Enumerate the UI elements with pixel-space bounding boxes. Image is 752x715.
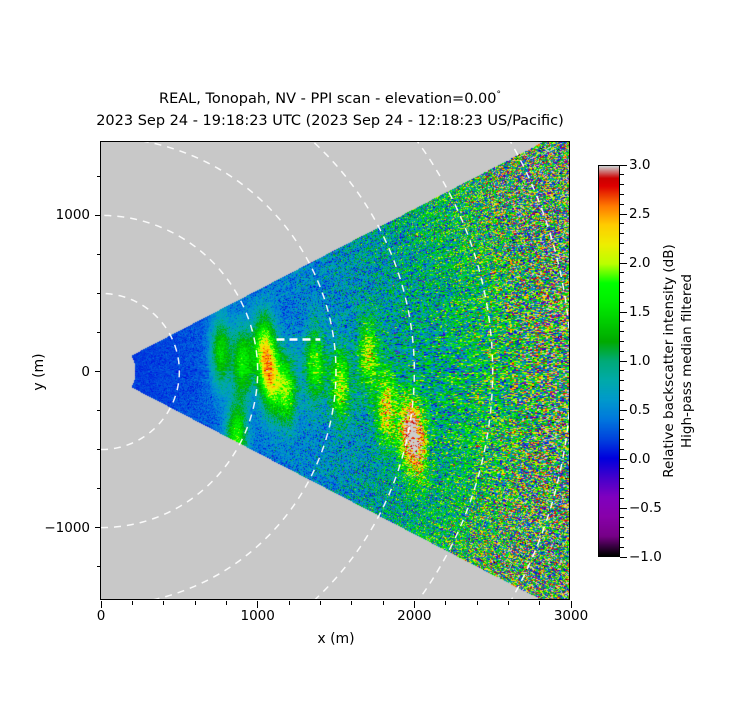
- colorbar-tick--0.5: [620, 508, 627, 509]
- range-rings-overlay: [101, 142, 569, 599]
- colorbar-tick--0.8: [620, 537, 624, 538]
- x-tick-label-2000: 2000: [397, 608, 431, 624]
- colorbar-tick--0.1: [620, 468, 624, 469]
- colorbar-tick-1.0: [620, 361, 627, 362]
- colorbar-tick-0.2: [620, 439, 624, 440]
- y-tick-750: [97, 254, 101, 255]
- colorbar-tick-2.0: [620, 263, 627, 264]
- y-tick-0: [95, 371, 102, 372]
- colorbar-tick-0.0: [620, 459, 627, 460]
- colorbar-tick-0.6: [620, 400, 624, 401]
- colorbar-tick-2.5: [620, 214, 627, 215]
- y-tick--1250: [97, 566, 101, 567]
- colorbar-label-line-1: Relative backscatter intensity (dB): [660, 244, 678, 477]
- colorbar-tick-label-0.5: 0.5: [629, 402, 650, 418]
- x-tick-label-3000: 3000: [554, 608, 588, 624]
- colorbar-tick-1.3: [620, 331, 624, 332]
- y-tick-500: [97, 293, 101, 294]
- colorbar-label: Relative backscatter intensity (dB) High…: [660, 244, 696, 477]
- colorbar-gradient: [599, 166, 619, 556]
- x-tick-1000: [257, 601, 258, 608]
- colorbar-tick-label--1.0: −1.0: [629, 549, 662, 565]
- range-ring-1500m: [101, 142, 336, 599]
- colorbar-tick--0.7: [620, 527, 624, 528]
- colorbar-tick-0.3: [620, 429, 624, 430]
- x-tick-label-1000: 1000: [240, 608, 274, 624]
- colorbar-tick-0.5: [620, 410, 627, 411]
- colorbar-tick-2.1: [620, 253, 624, 254]
- y-tick-label-1000: 1000: [56, 207, 90, 223]
- colorbar-tick-1.8: [620, 282, 624, 283]
- colorbar-tick-label-1.5: 1.5: [629, 304, 650, 320]
- y-tick--250: [97, 410, 101, 411]
- x-tick-800: [226, 601, 227, 605]
- colorbar-tick-label-3.0: 3.0: [629, 157, 650, 173]
- x-tick-2400: [477, 601, 478, 605]
- colorbar-tick-0.1: [620, 449, 624, 450]
- x-tick-1200: [289, 601, 290, 605]
- x-tick-2800: [539, 601, 540, 605]
- ppi-plot-axes: 0100020003000−100001000 x (m) y (m): [100, 141, 570, 600]
- colorbar-tick-2.7: [620, 194, 624, 195]
- colorbar-tick--0.9: [620, 547, 624, 548]
- y-axis-label: y (m): [31, 353, 47, 390]
- colorbar-tick-label-2.0: 2.0: [629, 255, 650, 271]
- colorbar-tick-label--0.5: −0.5: [629, 500, 662, 516]
- colorbar-tick-0.4: [620, 419, 624, 420]
- colorbar-tick--0.6: [620, 517, 624, 518]
- x-tick-2000: [414, 601, 415, 608]
- x-tick-0: [101, 601, 102, 608]
- y-tick-label--1000: −1000: [44, 520, 90, 536]
- colorbar-tick--0.4: [620, 498, 624, 499]
- colorbar-tick-0.9: [620, 370, 624, 371]
- colorbar-tick-2.6: [620, 204, 624, 205]
- colorbar-tick-1.9: [620, 272, 624, 273]
- colorbar-label-line-2: High-pass median filtered: [678, 244, 696, 477]
- title-line-1: REAL, Tonopah, NV - PPI scan - elevation…: [0, 84, 660, 110]
- colorbar-tick-1.5: [620, 312, 627, 313]
- x-tick-2600: [508, 601, 509, 605]
- x-tick-1400: [320, 601, 321, 605]
- colorbar-tick-2.4: [620, 223, 624, 224]
- colorbar-tick-label-2.5: 2.5: [629, 206, 650, 222]
- range-ring-3000m: [101, 142, 569, 599]
- range-ring-500m: [101, 293, 179, 449]
- x-axis-label: x (m): [317, 631, 354, 647]
- colorbar-tick-1.4: [620, 321, 624, 322]
- y-tick-250: [97, 332, 101, 333]
- y-tick--500: [97, 449, 101, 450]
- range-ring-2000m: [101, 142, 414, 599]
- y-tick-1250: [97, 176, 101, 177]
- colorbar-tick-1.2: [620, 341, 624, 342]
- colorbar-tick-1.1: [620, 351, 624, 352]
- ppi-scan-image: [101, 142, 569, 599]
- colorbar-tick-2.3: [620, 233, 624, 234]
- colorbar-tick-0.8: [620, 380, 624, 381]
- range-ring-2500m: [101, 142, 493, 599]
- x-tick-3000: [571, 601, 572, 608]
- x-tick-200: [132, 601, 133, 605]
- title-line-1-text: REAL, Tonopah, NV - PPI scan - elevation…: [159, 91, 496, 107]
- colorbar-tick--1.0: [620, 557, 627, 558]
- colorbar-tick--0.2: [620, 478, 624, 479]
- x-tick-400: [163, 601, 164, 605]
- y-tick-1000: [95, 215, 102, 216]
- colorbar-tick-2.8: [620, 184, 624, 185]
- title-line-2: 2023 Sep 24 - 19:18:23 UTC (2023 Sep 24 …: [0, 110, 660, 132]
- colorbar-tick-label-0.0: 0.0: [629, 451, 650, 467]
- colorbar-tick-3.0: [620, 165, 627, 166]
- colorbar-tick-label-1.0: 1.0: [629, 353, 650, 369]
- colorbar-tick--0.3: [620, 488, 624, 489]
- y-tick-label-0: 0: [81, 364, 90, 380]
- colorbar-tick-2.9: [620, 174, 624, 175]
- figure-title: REAL, Tonopah, NV - PPI scan - elevation…: [0, 84, 660, 132]
- x-tick-2200: [445, 601, 446, 605]
- x-tick-1600: [351, 601, 352, 605]
- y-tick--1000: [95, 527, 102, 528]
- x-tick-600: [195, 601, 196, 605]
- degree-symbol-icon: °: [496, 90, 501, 100]
- x-tick-label-0: 0: [97, 608, 106, 624]
- colorbar-tick-0.7: [620, 390, 624, 391]
- y-tick--750: [97, 488, 101, 489]
- colorbar-tick-1.6: [620, 302, 624, 303]
- colorbar: [598, 165, 620, 557]
- colorbar-tick-2.2: [620, 243, 624, 244]
- colorbar-tick-1.7: [620, 292, 624, 293]
- x-tick-1800: [383, 601, 384, 605]
